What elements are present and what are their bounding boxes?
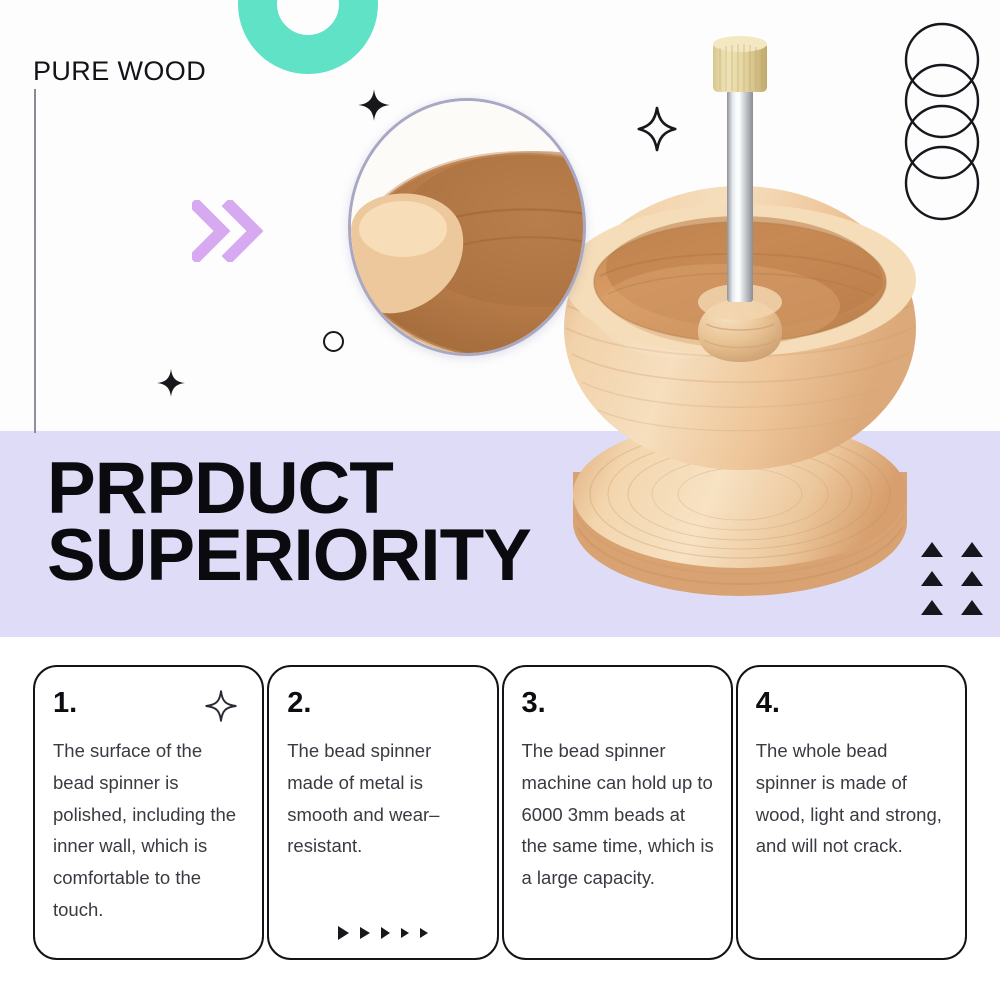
feature-card-text: The bead spinner made of metal is smooth… — [287, 735, 480, 862]
page-title: PRPDUCT SUPERIORITY — [47, 455, 531, 589]
arrow-sequence-decoration — [338, 926, 428, 940]
vertical-rule — [34, 89, 36, 433]
triangle-icon — [921, 600, 943, 615]
feature-card-number: 4. — [756, 689, 949, 718]
arrow-right-icon — [420, 928, 428, 938]
feature-card-number: 2. — [287, 689, 480, 718]
product-image-bead-spinner — [520, 32, 960, 612]
page-title-line-2: SUPERIORITY — [47, 522, 531, 589]
sparkle-star-icon — [156, 368, 186, 403]
triangle-icon — [921, 571, 943, 586]
small-circle-decoration — [323, 331, 344, 352]
feature-card-2[interactable]: 2. The bead spinner made of metal is smo… — [267, 665, 498, 960]
page-eyebrow-label: PURE WOOD — [33, 56, 206, 87]
feature-card-text: The whole bead spinner is made of wood, … — [756, 735, 949, 862]
triangle-icon — [961, 600, 983, 615]
triangle-icon — [961, 571, 983, 586]
arrow-right-icon — [338, 926, 349, 940]
feature-card-text: The bead spinner machine can hold up to … — [522, 735, 715, 894]
arrow-right-icon — [381, 927, 390, 939]
product-closeup-inset — [348, 98, 586, 356]
feature-card-number: 3. — [522, 689, 715, 718]
feature-card-3[interactable]: 3. The bead spinner machine can hold up … — [502, 665, 733, 960]
arrow-right-icon — [360, 927, 370, 939]
infographic-canvas: PURE WOOD — [0, 0, 1000, 1000]
triangle-grid-decoration — [921, 542, 1000, 629]
triangle-icon — [961, 542, 983, 557]
page-title-line-1: PRPDUCT — [47, 455, 531, 522]
triangle-icon — [921, 542, 943, 557]
feature-card-text: The surface of the bead spinner is polis… — [53, 735, 246, 926]
sparkle-star-outline-icon — [636, 104, 678, 159]
sparkle-outline-icon — [204, 689, 238, 728]
feature-card-4[interactable]: 4. The whole bead spinner is made of woo… — [736, 665, 967, 960]
double-chevron-icon — [192, 200, 264, 267]
arrow-right-icon — [401, 928, 409, 938]
feature-card-1[interactable]: 1. The surface of the bead spinner is po… — [33, 665, 264, 960]
feature-card-list: 1. The surface of the bead spinner is po… — [33, 665, 967, 960]
